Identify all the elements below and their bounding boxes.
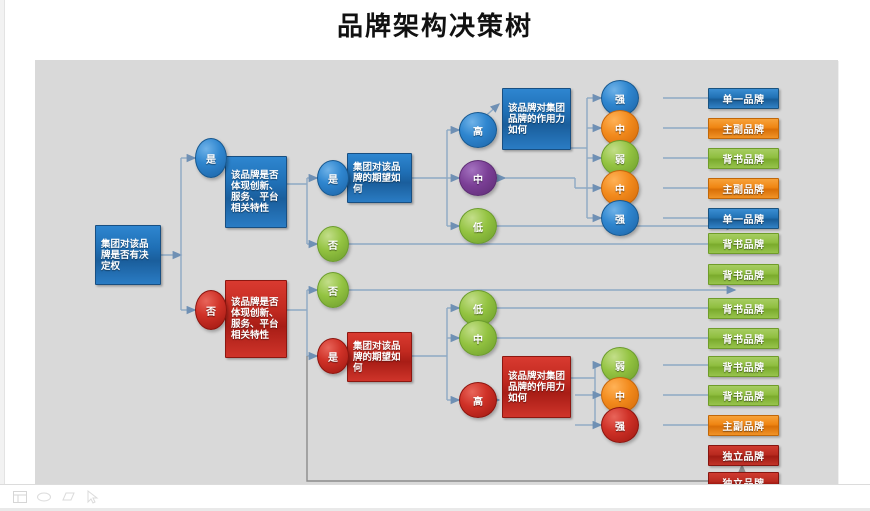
outcome-chip[interactable]: 背书品牌 [708, 148, 779, 169]
node-high-bottom[interactable]: 高 [459, 382, 497, 418]
decision-box-bottom-expectation[interactable]: 集团对该品牌的期望如何 [347, 332, 412, 382]
outcome-chip[interactable]: 主副品牌 [708, 118, 779, 139]
outcome-label: 独立品牌 [723, 448, 765, 463]
outcome-chip[interactable]: 主副品牌 [708, 178, 779, 199]
node-yes-traits-lower[interactable]: 是 [317, 338, 349, 374]
node-label: 高 [473, 123, 483, 138]
node-label: 弱 [615, 358, 625, 373]
outcome-chip[interactable]: 背书品牌 [708, 298, 779, 319]
decision-box-no-traits[interactable]: 该品牌是否体现创新、服务、平台相关特性 [225, 280, 287, 358]
node-yes-top[interactable]: 是 [195, 138, 227, 178]
node-label: 是 [206, 151, 216, 166]
node-label: 强 [615, 211, 625, 226]
outcome-chip[interactable]: 独立品牌 [708, 445, 779, 466]
decision-box-bottom-influence-label: 该品牌对集团品牌的作用力如何 [508, 371, 566, 404]
outcome-label: 主副品牌 [723, 121, 765, 136]
outcome-label: 背书品牌 [723, 267, 765, 282]
node-label: 否 [328, 283, 338, 298]
outcome-chip[interactable]: 主副品牌 [708, 415, 779, 436]
decision-box-top-expectation-label: 集团对该品牌的期望如何 [353, 162, 407, 195]
grid-icon[interactable] [12, 489, 28, 505]
node-no-traits-lower[interactable]: 否 [317, 272, 349, 308]
node-label: 是 [328, 349, 338, 364]
outcome-chip[interactable]: 背书品牌 [708, 385, 779, 406]
decision-box-yes-traits-label: 该品牌是否体现创新、服务、平台相关特性 [231, 170, 282, 214]
node-label: 高 [473, 393, 483, 408]
diagram-layer: 集团对该品牌是否有决定权 该品牌是否体现创新、服务、平台相关特性 该品牌是否体现… [35, 60, 838, 487]
node-label: 中 [615, 121, 625, 136]
application-window: 品牌架构决策树 [0, 0, 870, 511]
outcome-chip[interactable]: 单一品牌 [708, 208, 779, 229]
node-no-top[interactable]: 否 [195, 290, 227, 330]
node-strong-2[interactable]: 强 [601, 200, 639, 236]
outcome-label: 背书品牌 [723, 388, 765, 403]
ellipse-icon[interactable] [36, 489, 52, 505]
decision-box-bottom-influence[interactable]: 该品牌对集团品牌的作用力如何 [502, 356, 571, 418]
node-label: 低 [473, 301, 483, 316]
outcome-label: 背书品牌 [723, 151, 765, 166]
outcome-label: 单一品牌 [723, 91, 765, 106]
outcome-label: 单一品牌 [723, 211, 765, 226]
node-label: 弱 [615, 151, 625, 166]
outcome-chip[interactable]: 背书品牌 [708, 356, 779, 377]
outcome-label: 背书品牌 [723, 236, 765, 251]
left-rail [0, 0, 5, 511]
diagram-canvas[interactable]: 集团对该品牌是否有决定权 该品牌是否体现创新、服务、平台相关特性 该品牌是否体现… [35, 60, 838, 487]
node-label: 中 [615, 181, 625, 196]
page-title: 品牌架构决策树 [0, 6, 870, 43]
outcome-label: 背书品牌 [723, 331, 765, 346]
node-label: 否 [206, 303, 216, 318]
node-strong-3[interactable]: 强 [601, 407, 639, 443]
node-label: 中 [473, 171, 483, 186]
decision-box-top-influence[interactable]: 该品牌对集团品牌的作用力如何 [502, 88, 571, 150]
decision-box-root-label: 集团对该品牌是否有决定权 [101, 239, 156, 272]
decision-box-top-influence-label: 该品牌对集团品牌的作用力如何 [508, 103, 566, 136]
node-mid-top[interactable]: 中 [459, 160, 497, 196]
outcome-label: 主副品牌 [723, 418, 765, 433]
node-mid-bottom[interactable]: 中 [459, 320, 497, 356]
outcome-chip[interactable]: 背书品牌 [708, 264, 779, 285]
node-yes-traits-upper[interactable]: 是 [317, 160, 349, 196]
node-no-traits-upper[interactable]: 否 [317, 226, 349, 262]
rounded-rect-icon[interactable] [60, 489, 76, 505]
node-label: 中 [615, 388, 625, 403]
node-label: 低 [473, 219, 483, 234]
outcome-chip[interactable]: 背书品牌 [708, 328, 779, 349]
outcome-label: 背书品牌 [723, 301, 765, 316]
decision-box-bottom-expectation-label: 集团对该品牌的期望如何 [353, 341, 407, 374]
status-bar [0, 484, 870, 511]
node-label: 否 [328, 237, 338, 252]
node-label: 中 [473, 331, 483, 346]
outcome-label: 背书品牌 [723, 359, 765, 374]
outcome-chip[interactable]: 单一品牌 [708, 88, 779, 109]
outcome-chip[interactable]: 背书品牌 [708, 233, 779, 254]
node-label: 强 [615, 418, 625, 433]
node-label: 强 [615, 91, 625, 106]
cursor-icon[interactable] [84, 489, 100, 505]
drawing-tools[interactable] [12, 486, 100, 508]
decision-box-no-traits-label: 该品牌是否体现创新、服务、平台相关特性 [231, 297, 282, 341]
node-label: 是 [328, 171, 338, 186]
decision-box-yes-traits[interactable]: 该品牌是否体现创新、服务、平台相关特性 [225, 156, 287, 228]
decision-box-top-expectation[interactable]: 集团对该品牌的期望如何 [347, 153, 412, 203]
outcome-label: 主副品牌 [723, 181, 765, 196]
node-high-top[interactable]: 高 [459, 112, 497, 148]
node-low-top[interactable]: 低 [459, 208, 497, 244]
decision-box-root[interactable]: 集团对该品牌是否有决定权 [95, 225, 161, 285]
